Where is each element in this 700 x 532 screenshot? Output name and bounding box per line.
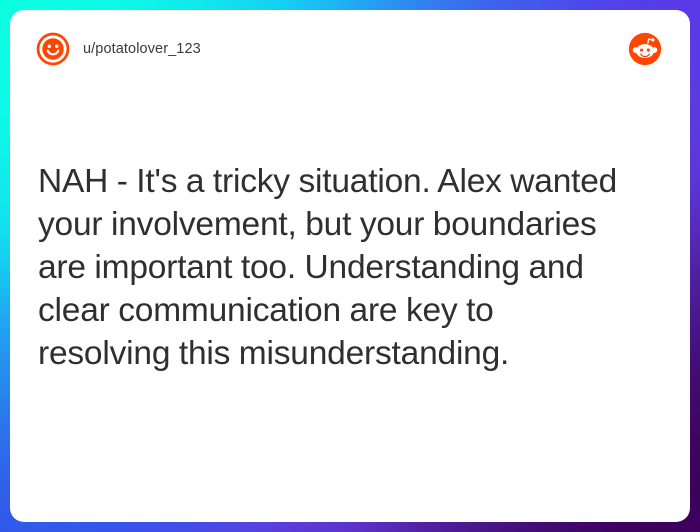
user-identity[interactable]: u/potatolover_123: [36, 32, 628, 66]
username-label: u/potatolover_123: [83, 41, 201, 57]
comment-text: NAH - It's a tricky situation. Alex want…: [38, 160, 634, 375]
comment-card: u/potatolover_123 NAH - It's a tricky si…: [10, 10, 690, 522]
comment-body: NAH - It's a tricky situation. Alex want…: [38, 160, 634, 375]
card-header: u/potatolover_123: [10, 10, 690, 88]
reddit-snoo-icon[interactable]: [628, 32, 662, 66]
smiley-face-icon[interactable]: [36, 32, 70, 66]
